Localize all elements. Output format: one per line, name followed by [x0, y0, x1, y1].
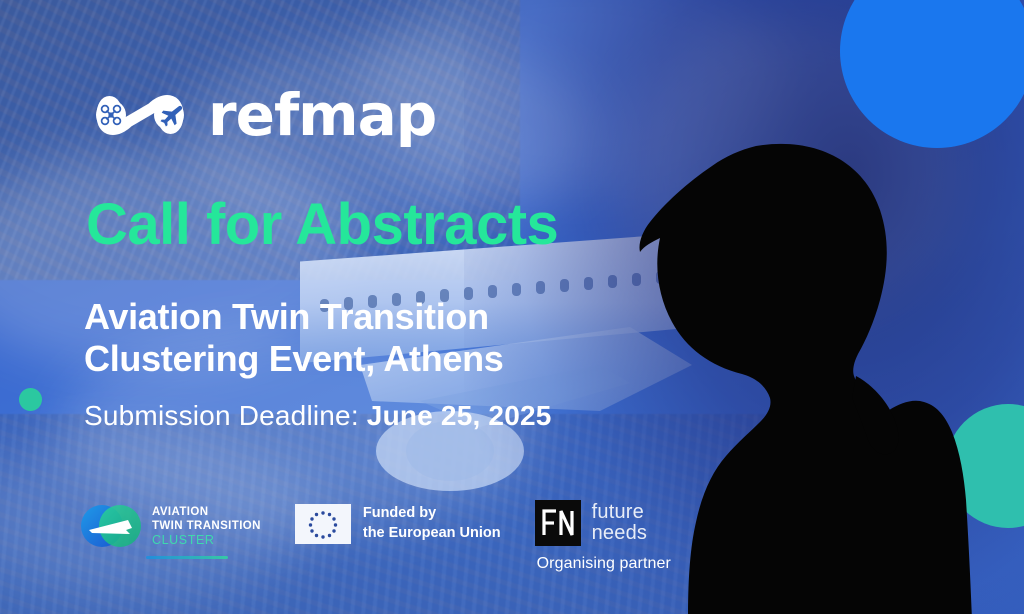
cluster-underline-decor — [146, 556, 228, 559]
deadline-date: June 25, 2025 — [367, 400, 552, 431]
eu-funding-line1: Funded by — [363, 504, 501, 524]
event-subtitle-line1: Aviation Twin Transition — [84, 296, 504, 338]
footer-logos: AVIATION TWIN TRANSITION CLUSTER — [80, 498, 671, 573]
aviation-twin-transition-cluster-logo[interactable]: AVIATION TWIN TRANSITION CLUSTER — [80, 498, 261, 554]
future-needs-line2: needs — [592, 523, 648, 544]
future-needs-line1: future — [592, 502, 648, 523]
content-layer: refmap Call for Abstracts Aviation Twin … — [0, 0, 1024, 614]
page-title: Call for Abstracts — [86, 196, 558, 254]
refmap-logo[interactable]: refmap — [86, 84, 436, 146]
cluster-line3: CLUSTER — [152, 533, 261, 548]
future-needs-row: future needs — [535, 500, 671, 546]
future-needs-name: future needs — [592, 502, 648, 544]
future-needs-monogram-icon — [535, 500, 581, 546]
organising-partner-label: Organising partner — [537, 555, 671, 573]
cluster-line2: TWIN TRANSITION — [152, 519, 261, 533]
eu-funding-line2: the European Union — [363, 524, 501, 544]
future-needs-logo[interactable]: future needs Organising partner — [535, 498, 671, 573]
submission-deadline: Submission Deadline: June 25, 2025 — [84, 402, 552, 430]
event-subtitle-line2: Clustering Event, Athens — [84, 338, 504, 380]
cluster-line1: AVIATION — [152, 505, 261, 519]
poster-canvas: refmap Call for Abstracts Aviation Twin … — [0, 0, 1024, 614]
refmap-infinity-drone-plane-icon — [86, 84, 194, 146]
refmap-wordmark: refmap — [208, 86, 436, 144]
aviation-twin-transition-cluster-icon — [80, 498, 142, 554]
eu-funding-logo[interactable]: Funded by the European Union — [295, 498, 501, 544]
eu-funding-text: Funded by the European Union — [363, 504, 501, 543]
deadline-label: Submission Deadline: — [84, 400, 359, 431]
eu-flag-icon — [295, 504, 351, 544]
event-subtitle: Aviation Twin Transition Clustering Even… — [84, 296, 504, 381]
cluster-text: AVIATION TWIN TRANSITION CLUSTER — [152, 503, 261, 548]
